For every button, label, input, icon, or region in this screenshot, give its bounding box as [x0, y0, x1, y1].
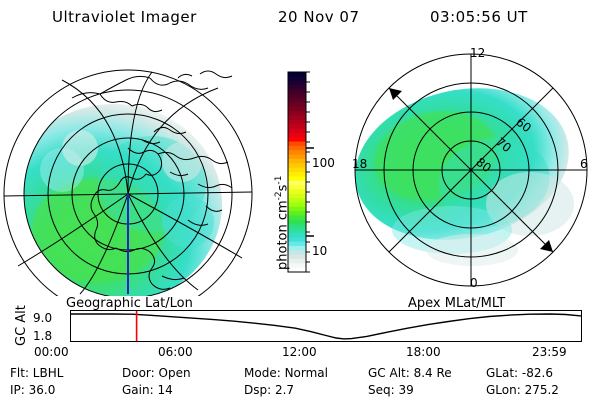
status-label: Gain:	[122, 383, 154, 397]
status-label: IP:	[10, 383, 25, 397]
status-field-mode: Mode: Normal	[244, 366, 328, 380]
observation-time: 03:05:56 UT	[430, 8, 528, 26]
status-field-glat: GLat: -82.6	[486, 366, 553, 380]
colorbar-unit-exp1: -2	[274, 191, 284, 200]
colorbar-svg	[256, 44, 342, 296]
status-value: 39	[395, 383, 414, 397]
time-tick-0600: 06:00	[158, 345, 193, 359]
time-tick-1800: 18:00	[406, 345, 441, 359]
instrument-title: Ultraviolet Imager	[52, 8, 197, 26]
mlt-label-12: 12	[470, 46, 485, 60]
status-panel: Flt: LBHLDoor: OpenMode: NormalGC Alt: 8…	[0, 366, 600, 400]
mlt-label-0: 0	[470, 276, 478, 290]
colorbar-tick-label-100: 100	[312, 156, 335, 170]
colorbar-tick-label-10: 10	[312, 244, 327, 258]
alt-tick-top: 9.0	[33, 311, 52, 325]
status-value: Normal	[281, 366, 328, 380]
time-tick-1200: 12:00	[282, 345, 317, 359]
colorbar-unit-sec: s	[275, 185, 290, 192]
apex-mlt-panel[interactable]: 12 0 18 6 60 70 80	[344, 44, 598, 296]
colorbar-panel: photon cm-2s-1 100 10	[256, 44, 342, 296]
status-label: GLon:	[486, 383, 521, 397]
status-value: -82.6	[518, 366, 553, 380]
status-field-seq: Seq: 39	[368, 383, 414, 397]
status-label: GC Alt:	[368, 366, 410, 380]
status-field-glon: GLon: 275.2	[486, 383, 559, 397]
geographic-caption: Geographic Lat/Lon	[66, 296, 193, 311]
alt-axis-label: GC Alt	[14, 305, 29, 346]
geographic-map-panel[interactable]	[2, 44, 254, 296]
status-value: 2.7	[271, 383, 294, 397]
status-value: 14	[154, 383, 173, 397]
status-label: Door:	[122, 366, 155, 380]
colorbar-gradient	[288, 72, 306, 273]
observation-date: 20 Nov 07	[278, 8, 360, 26]
geographic-map-svg	[2, 44, 254, 296]
apex-mlt-svg	[344, 44, 598, 296]
status-value: LBHL	[29, 366, 63, 380]
time-tick-0000: 00:00	[34, 345, 69, 359]
status-value: Open	[155, 366, 191, 380]
status-label: GLat:	[486, 366, 518, 380]
colorbar-unit-exp2: -1	[274, 176, 284, 185]
status-label: Dsp:	[244, 383, 271, 397]
status-field-ip: IP: 36.0	[10, 383, 55, 397]
status-value: 8.4 Re	[410, 366, 452, 380]
altitude-plot-svg	[70, 310, 582, 342]
status-field-door: Door: Open	[122, 366, 191, 380]
time-tick-2359: 23:59	[532, 345, 567, 359]
status-field-gain: Gain: 14	[122, 383, 173, 397]
status-value: 36.0	[25, 383, 56, 397]
status-label: Mode:	[244, 366, 281, 380]
status-label: Flt:	[10, 366, 29, 380]
colorbar-tick-marks	[306, 72, 314, 272]
mlt-label-6: 6	[580, 157, 588, 171]
status-label: Seq:	[368, 383, 395, 397]
status-value: 275.2	[521, 383, 559, 397]
colorbar-unit-base: photon cm	[275, 200, 290, 270]
mlt-label-18: 18	[352, 157, 367, 171]
alt-tick-bottom: 1.8	[33, 329, 52, 343]
status-field-gcalt: GC Alt: 8.4 Re	[368, 366, 452, 380]
colorbar-axis-label: photon cm-2s-1	[274, 176, 290, 270]
status-field-dsp: Dsp: 2.7	[244, 383, 294, 397]
apex-caption: Apex MLat/MLT	[408, 296, 505, 311]
uv-imager-display: Ultraviolet Imager 20 Nov 07 03:05:56 UT	[0, 0, 600, 400]
emission-patch	[6, 104, 222, 296]
status-field-flt: Flt: LBHL	[10, 366, 63, 380]
altitude-plot[interactable]	[70, 310, 582, 342]
